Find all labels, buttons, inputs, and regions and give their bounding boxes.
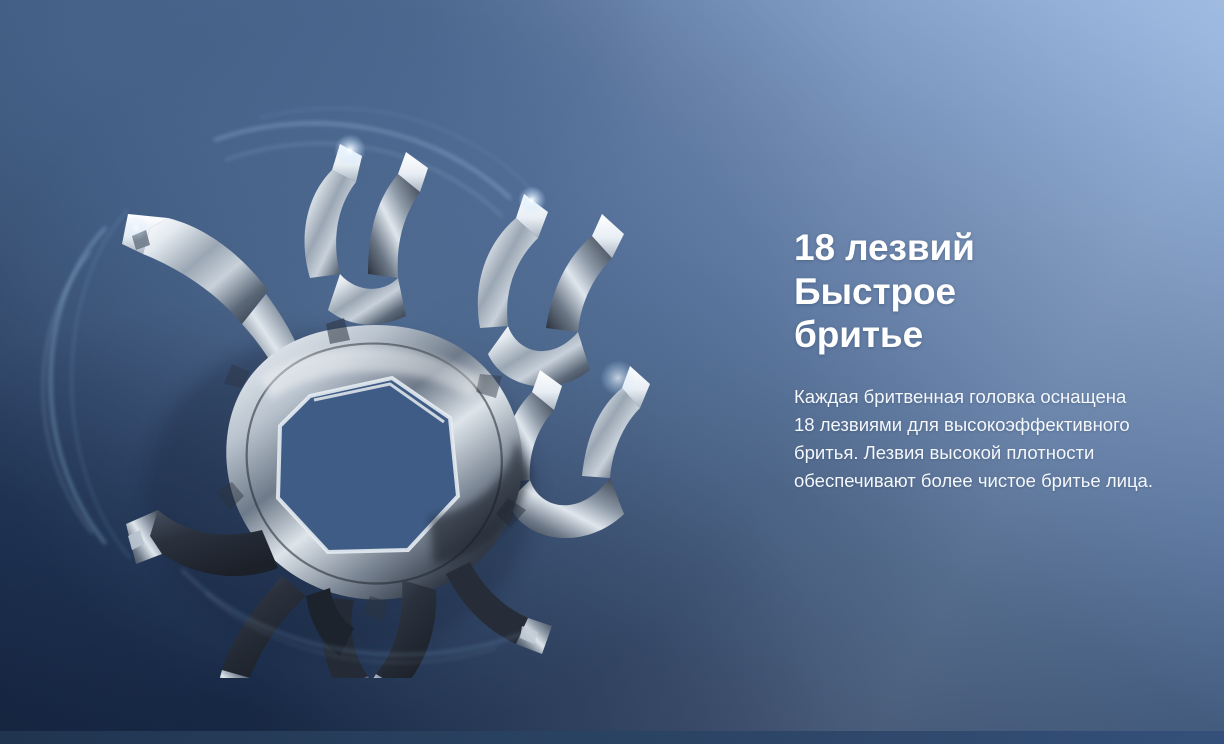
body-text: Каждая бритвенная головка оснащена 18 ле… (794, 383, 1204, 495)
marketing-copy-block: 18 лезвий Быстрое бритье Каждая бритвенн… (794, 226, 1204, 495)
bottom-edge-band (0, 731, 1224, 744)
product-feature-banner: 18 лезвий Быстрое бритье Каждая бритвенн… (0, 0, 1224, 744)
product-image-shaver-blade-assembly (10, 78, 710, 678)
headline-text: 18 лезвий Быстрое бритье (794, 226, 1204, 357)
blade-arm-top-center (305, 134, 428, 325)
blade-arm-upper-right (478, 186, 624, 387)
